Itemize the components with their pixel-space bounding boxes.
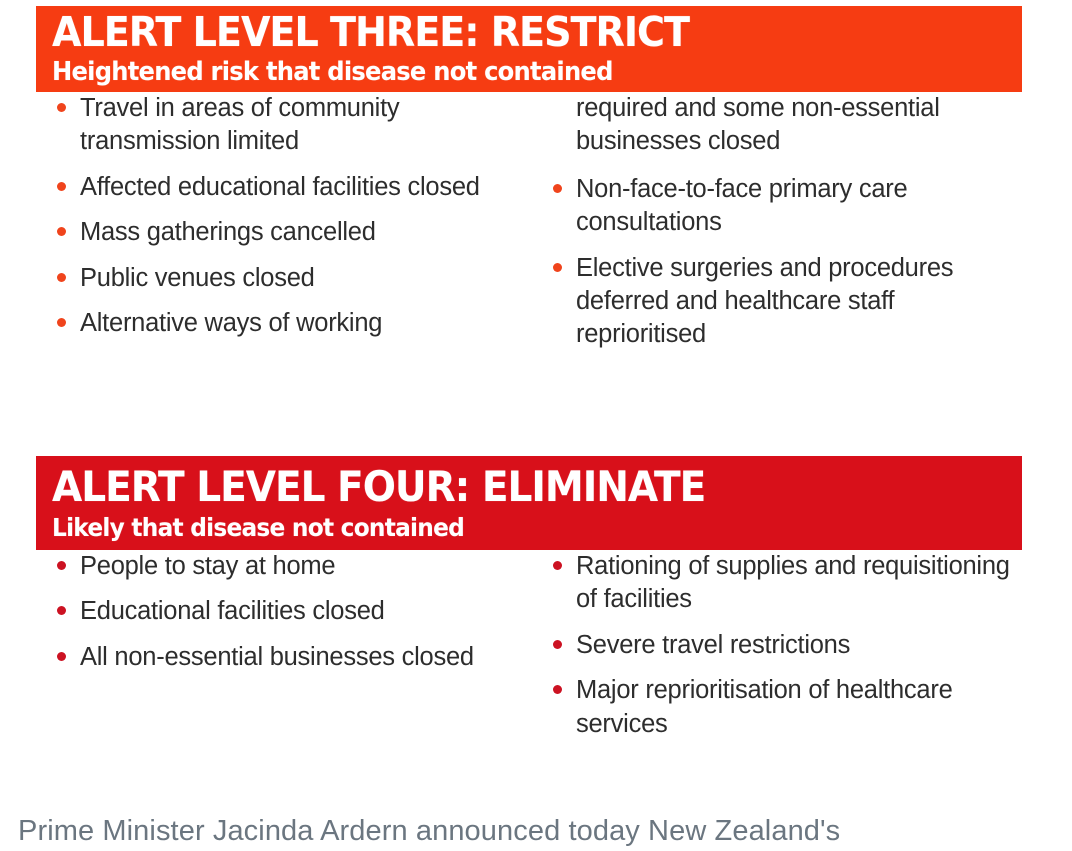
bullet-list: required and some non-essential business… xyxy=(544,92,1022,352)
list-item: Severe travel restrictions xyxy=(544,629,1022,662)
list-item: Mass gatherings cancelled xyxy=(48,216,498,249)
list-item-continuation: required and some non-essential business… xyxy=(544,92,1022,159)
article-caption: Prime Minister Jacinda Ardern announced … xyxy=(18,812,1058,851)
list-item: Public venues closed xyxy=(48,262,498,295)
alert-level-three-card: ALERT LEVEL THREE: RESTRICT Heightened r… xyxy=(36,6,1022,432)
bullet-list: Travel in areas of community transmissio… xyxy=(48,92,498,340)
alert-level-three-title: ALERT LEVEL THREE: RESTRICT xyxy=(52,12,954,53)
list-item: Rationing of supplies and requisitioning… xyxy=(544,550,1022,617)
list-item: Educational facilities closed xyxy=(48,595,498,628)
list-item: Non-face-to-face primary care consultati… xyxy=(544,173,1022,240)
alert-level-four-banner: ALERT LEVEL FOUR: ELIMINATE Likely that … xyxy=(36,456,1022,550)
list-item: Affected educational facilities closed xyxy=(48,171,498,204)
alert-level-four-title: ALERT LEVEL FOUR: ELIMINATE xyxy=(52,466,954,508)
list-item: Alternative ways of working xyxy=(48,307,498,340)
list-item: Elective surgeries and procedures deferr… xyxy=(544,252,1022,352)
alert-level-four-subtitle: Likely that disease not contained xyxy=(52,515,954,540)
alert-level-three-left-column: Travel in areas of community transmissio… xyxy=(48,92,498,352)
alert-level-three-subtitle: Heightened risk that disease not contain… xyxy=(52,59,954,85)
alert-level-three-right-column: required and some non-essential business… xyxy=(544,92,1022,364)
list-item: People to stay at home xyxy=(48,550,498,583)
alert-levels-infographic: ALERT LEVEL THREE: RESTRICT Heightened r… xyxy=(0,0,1072,845)
list-item: Travel in areas of community transmissio… xyxy=(48,92,498,159)
alert-level-four-card: ALERT LEVEL FOUR: ELIMINATE Likely that … xyxy=(36,456,1022,790)
alert-level-three-banner: ALERT LEVEL THREE: RESTRICT Heightened r… xyxy=(36,6,1022,92)
alert-level-four-left-column: People to stay at home Educational facil… xyxy=(48,550,498,686)
list-item: Major reprioritisation of healthcare ser… xyxy=(544,674,1022,741)
list-item: All non-essential businesses closed xyxy=(48,641,498,674)
alert-level-four-body: People to stay at home Educational facil… xyxy=(36,550,1022,790)
bullet-list: Rationing of supplies and requisitioning… xyxy=(544,550,1022,741)
alert-level-four-right-column: Rationing of supplies and requisitioning… xyxy=(544,550,1022,753)
bullet-list: People to stay at home Educational facil… xyxy=(48,550,498,674)
alert-level-three-body: Travel in areas of community transmissio… xyxy=(36,92,1022,432)
